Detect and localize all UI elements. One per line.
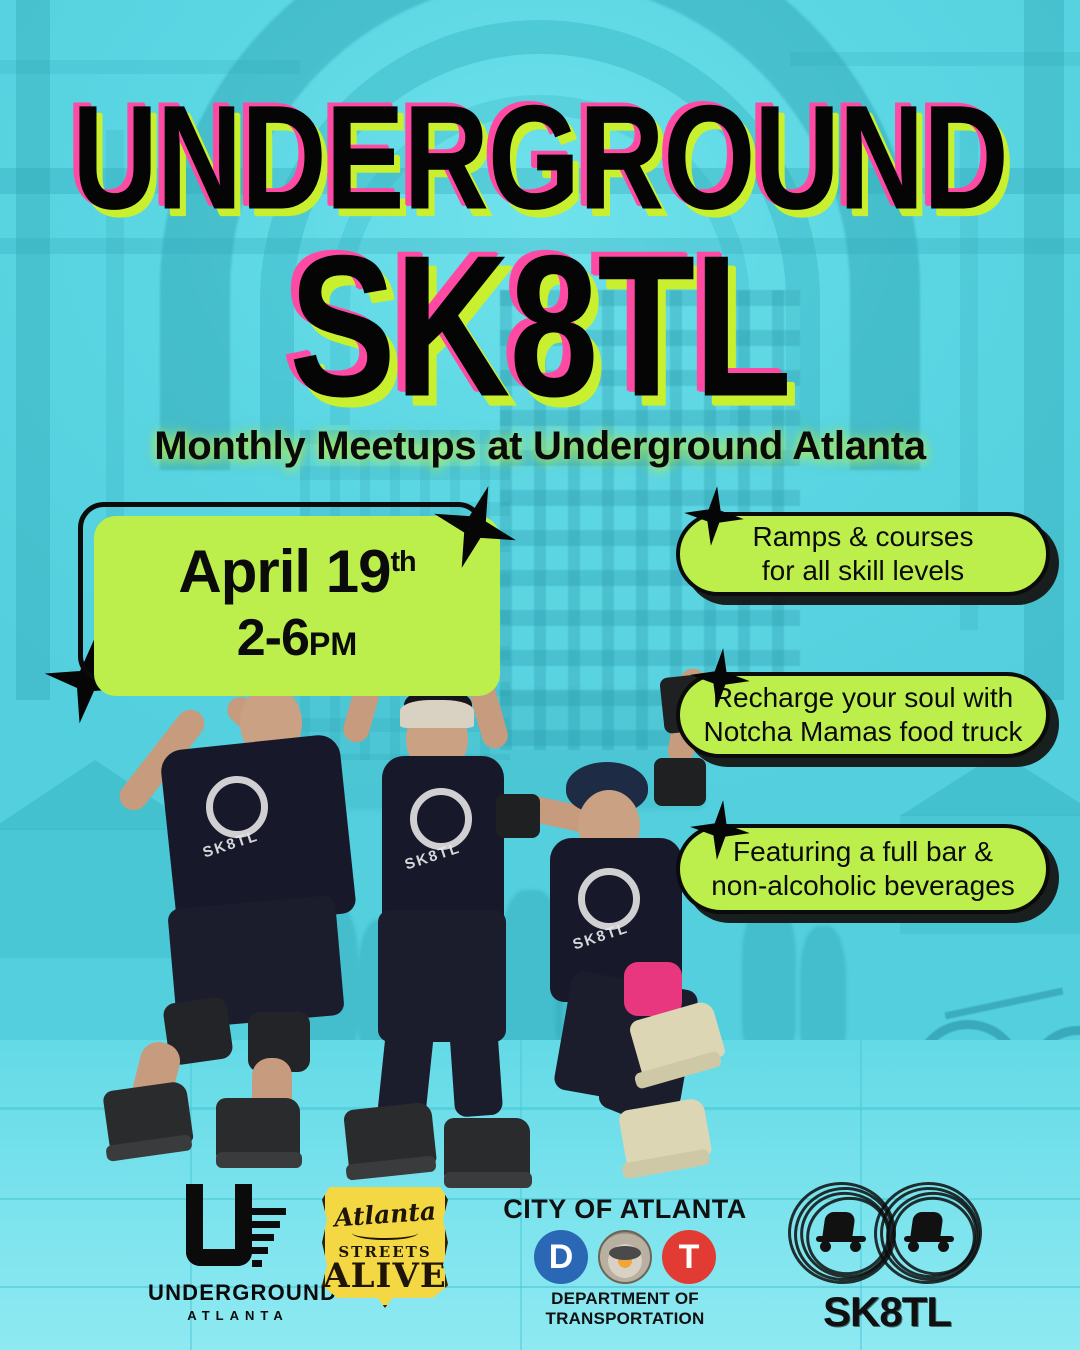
date-ordinal: th [390, 546, 415, 578]
crowd-silhouette [742, 900, 796, 1050]
tent-canopy-right [900, 752, 1080, 816]
sk8tl-rings-icon [782, 1178, 992, 1290]
logo-underground-atlanta: UNDERGROUND ATLANTA [148, 1184, 328, 1323]
shirt-logo-icon [206, 776, 268, 838]
date-card-body: April 19th 2-6PM [94, 516, 500, 696]
sponsor-logo-row: UNDERGROUND ATLANTA Atlanta STREETS ALIV… [0, 1178, 1080, 1338]
elbow-pad [654, 758, 706, 806]
roller-skate-icon [816, 1212, 868, 1250]
poster-subtitle: Monthly Meetups at Underground Atlanta [0, 424, 1080, 469]
date-month-day: April 19 [178, 538, 390, 605]
sk8tl-wordmark: SK8TL [782, 1288, 992, 1336]
feature-bubble-ramps: Ramps & courses for all skill levels [676, 512, 1050, 596]
underground-u-icon [178, 1184, 298, 1276]
crowd-silhouette [800, 926, 846, 1052]
skate-wheels [216, 1152, 302, 1168]
feature-line2: non-alcoholic beverages [711, 869, 1015, 903]
feature-line2: Notcha Mamas food truck [703, 715, 1022, 749]
shirt-logo-icon [578, 868, 640, 930]
poster-title-line2: SK8TL [0, 238, 1080, 415]
knee-pad-pink [624, 962, 682, 1016]
skater-leg-tight [449, 1018, 504, 1117]
city-seal-icon [598, 1230, 652, 1284]
streets-alive-shield-icon: Atlanta STREETS ALIVE [322, 1182, 448, 1308]
dot-logo-top-text: CITY OF ATLANTA [500, 1194, 750, 1225]
roller-skate-icon [904, 1212, 956, 1250]
feature-line1: Featuring a full bar & [733, 835, 993, 869]
poster-root: SK8TL SK8TL [0, 0, 1080, 1350]
date-time-text: 2-6PM [237, 612, 358, 664]
logo-sk8tl: SK8TL [782, 1178, 992, 1336]
dot-letter-t: T [662, 1230, 716, 1284]
shirt-logo-icon [410, 788, 472, 850]
dot-logo-marks: D T [500, 1230, 750, 1284]
bicycle-frame [945, 988, 1064, 1020]
feature-bubble-bar: Featuring a full bar & non-alcoholic bev… [676, 824, 1050, 914]
underground-logo-name: UNDERGROUND [148, 1280, 328, 1306]
skater-glove [496, 794, 540, 838]
dot-letter-d: D [534, 1230, 588, 1284]
streets-alive-alive: ALIVE [323, 1259, 447, 1293]
feature-line1: Recharge your soul with [713, 681, 1013, 715]
feature-line1: Ramps & courses [753, 520, 974, 554]
underground-logo-sub: ATLANTA [148, 1308, 328, 1323]
inline-skate [216, 1098, 300, 1160]
time-meridiem: PM [309, 626, 357, 662]
headband [400, 700, 474, 728]
logo-city-of-atlanta-dot: CITY OF ATLANTA D T DEPARTMENT OF TRANSP… [500, 1194, 750, 1329]
dot-logo-bottom-text: DEPARTMENT OF TRANSPORTATION [500, 1289, 750, 1329]
date-main-text: April 19th [178, 542, 415, 602]
title-block: UNDERGROUND SK8TL [0, 92, 1080, 379]
streets-alive-script: Atlanta [333, 1198, 437, 1230]
feature-line2: for all skill levels [762, 554, 964, 588]
logo-atlanta-streets-alive: Atlanta STREETS ALIVE [322, 1182, 452, 1308]
date-card: April 19th 2-6PM [78, 502, 502, 698]
poster-title-line1: UNDERGROUND [0, 92, 1080, 223]
inline-skate [444, 1118, 530, 1180]
time-range: 2-6 [237, 609, 309, 667]
feature-bubble-food-truck: Recharge your soul with Notcha Mamas foo… [676, 672, 1050, 758]
